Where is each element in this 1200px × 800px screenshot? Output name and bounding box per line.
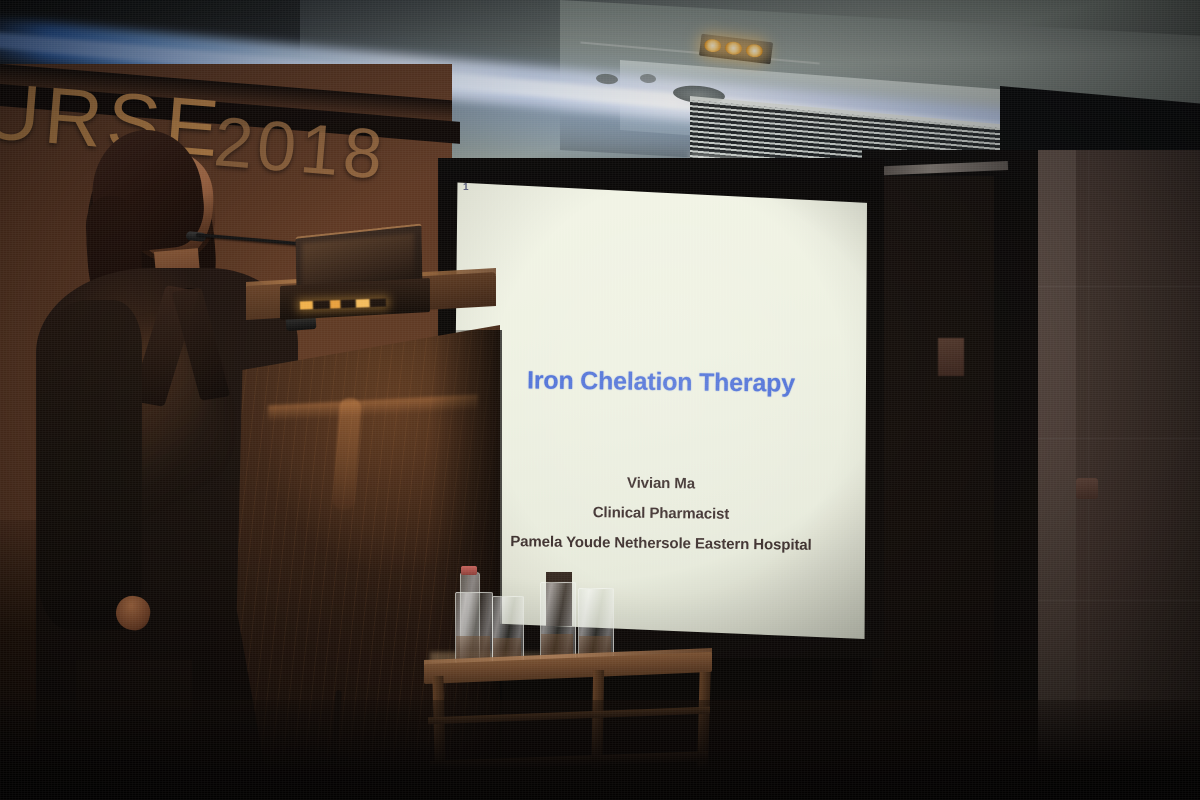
stone-seam-vertical: [1088, 150, 1089, 790]
slide-title: Iron Chelation Therapy: [455, 365, 867, 399]
stone-seam: [1038, 286, 1200, 287]
door-notice-icon: [938, 338, 964, 376]
spotlight-icon: [704, 38, 722, 53]
water-bottle-cap: [461, 566, 477, 575]
door-reveal: [872, 176, 994, 776]
stone-seam: [1038, 438, 1200, 439]
slide-number: 1: [463, 182, 469, 193]
wall-switch-icon[interactable]: [1076, 478, 1098, 499]
stone-seam: [1038, 600, 1200, 601]
speaker-arm-left: [38, 300, 142, 630]
stone-tile-lit-strip: [1038, 150, 1076, 790]
floor: [0, 700, 1200, 800]
conference-photo-scene: URSE 2018 1 Iron Chelation Therapy Vivia…: [0, 0, 1200, 800]
spotlight-icon: [724, 41, 742, 56]
spotlight-icon: [745, 43, 763, 58]
backdrop-year: 2018: [211, 101, 389, 195]
projection-screen: [455, 177, 867, 639]
